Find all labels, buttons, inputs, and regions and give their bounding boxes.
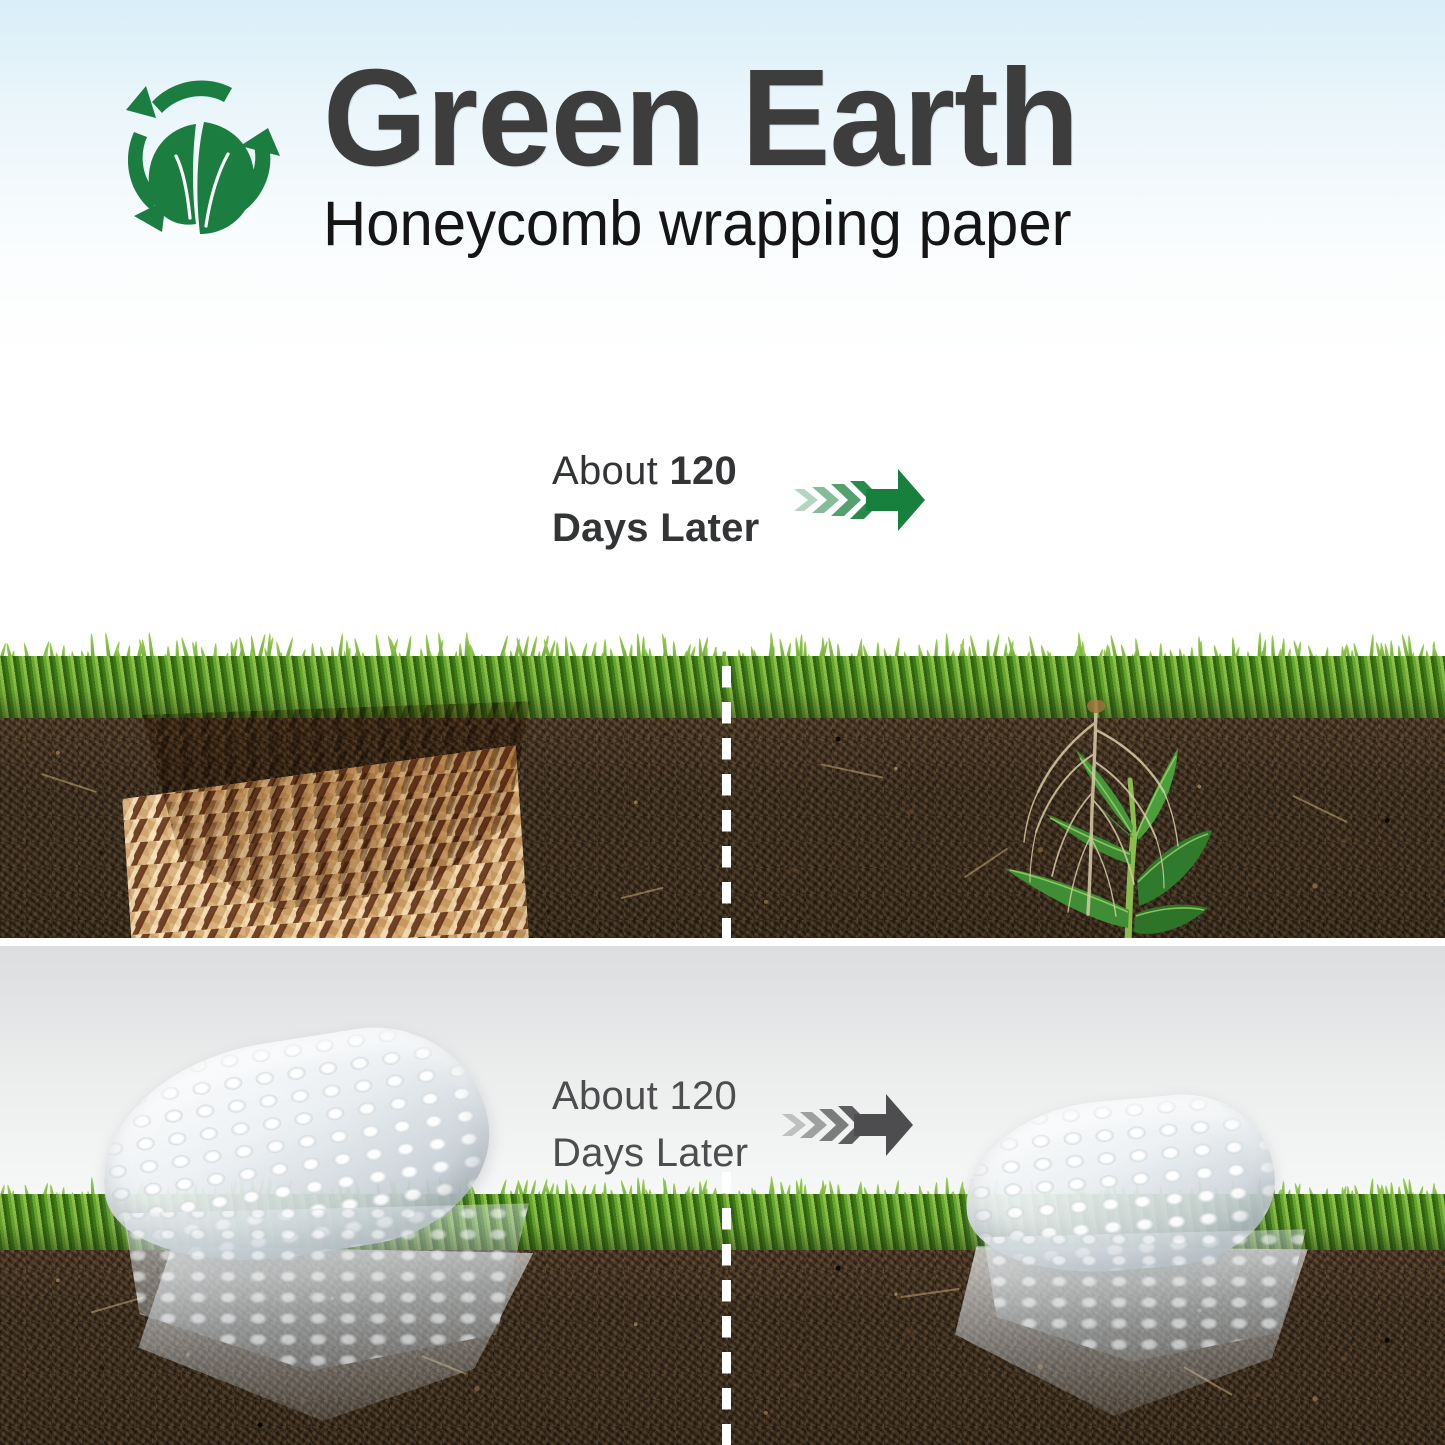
timeline-days: 120: [669, 449, 737, 493]
infographic-page: Green Earth Honeycomb wrapping paper: [0, 0, 1445, 1445]
bubble-wrap-panel: About 120 Days Later: [0, 946, 1445, 1445]
right-arrow-icon: [782, 1088, 914, 1162]
honeycomb-panel: About 120 Days Later: [0, 360, 1445, 938]
timeline-suffix: Days Later: [552, 1125, 748, 1182]
bubble-wrap-roll-left: [100, 1040, 490, 1255]
timeline-label-honeycomb: About 120 Days Later: [552, 443, 760, 557]
bubble-wrap-roll-right: [965, 1100, 1275, 1270]
header-banner: Green Earth Honeycomb wrapping paper: [0, 0, 1445, 360]
plant-roots: [1008, 700, 1288, 930]
timeline-label-group-bubble-wrap: About 120 Days Later: [552, 1068, 914, 1182]
timeline-days: 120: [669, 1074, 737, 1118]
vertical-dashed-divider: [722, 1172, 731, 1445]
timeline-label-group-honeycomb: About 120 Days Later: [552, 443, 926, 557]
timeline-prefix: About: [552, 1074, 669, 1118]
vertical-dashed-divider: [722, 630, 731, 938]
timeline-suffix: Days Later: [552, 500, 760, 557]
page-subtitle: Honeycomb wrapping paper: [323, 190, 1072, 259]
page-title: Green Earth: [323, 52, 1087, 184]
right-arrow-icon: [794, 463, 926, 537]
recycle-leaf-icon: [95, 58, 305, 258]
timeline-label-bubble-wrap: About 120 Days Later: [552, 1068, 748, 1182]
timeline-prefix: About: [552, 449, 669, 493]
